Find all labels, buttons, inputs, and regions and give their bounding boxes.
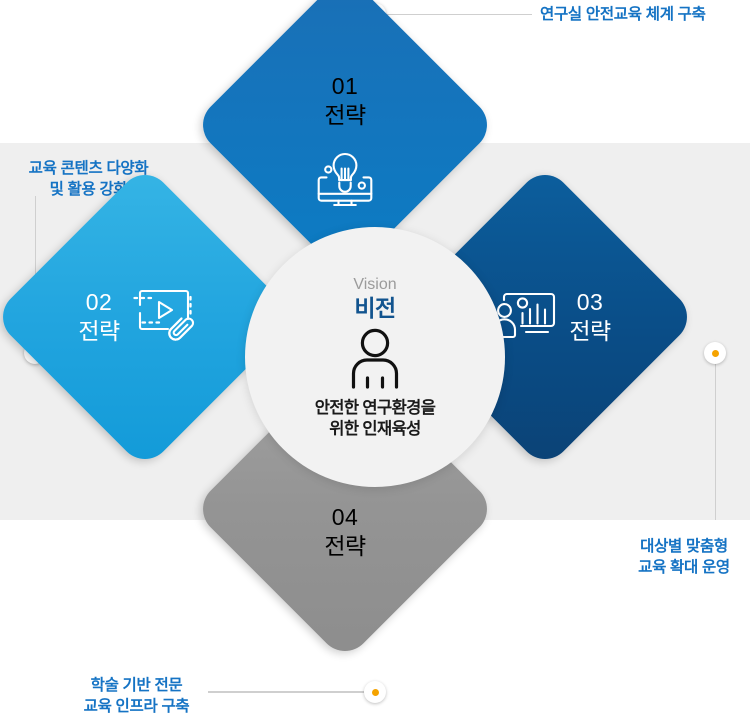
connector-line-strategy-01	[386, 14, 532, 16]
strategy-02-content: 02 전략	[78, 287, 197, 348]
strategy-04-text: 04 전략	[324, 504, 365, 561]
callout-strategy-01-line1: 연구실 안전교육 체계 구축	[540, 4, 745, 25]
vision-description-line2: 위한 인재육성	[315, 419, 436, 440]
callout-strategy-03: 대상별 맞춤형 교육 확대 운영	[623, 536, 745, 578]
strategy-03-content: 03 전략	[491, 286, 610, 349]
strategy-04-number: 04	[332, 504, 359, 531]
strategy-03-label: 전략	[569, 316, 610, 346]
callout-strategy-04-line2: 교육 인프라 구축	[69, 696, 204, 717]
strategy-02-text: 02 전략	[78, 289, 119, 346]
strategy-03-number: 03	[577, 289, 604, 316]
strategy-02-number: 02	[86, 289, 113, 316]
connector-dot-strategy-03	[704, 342, 726, 364]
strategy-02-label: 전략	[78, 316, 119, 346]
video-attachment-icon	[132, 287, 198, 348]
strategy-01-text: 01 전략	[324, 73, 365, 130]
strategy-03-text: 03 전략	[569, 289, 610, 346]
callout-strategy-04: 학술 기반 전문 교육 인프라 구축	[69, 675, 204, 717]
strategy-04-label: 전략	[324, 531, 365, 561]
callout-strategy-04-line1: 학술 기반 전문	[69, 675, 204, 696]
callout-strategy-01: 연구실 안전교육 체계 구축	[540, 4, 745, 25]
diagram-canvas: 연구실 안전교육 체계 구축 교육 콘텐츠 다양화 및 활용 강화 대상별 맞춤…	[0, 0, 750, 720]
vision-label-ko: 비전	[354, 295, 395, 322]
connector-dot-strategy-04	[364, 681, 386, 703]
person-icon	[346, 328, 404, 395]
vision-label-en: Vision	[353, 275, 396, 294]
vision-description: 안전한 연구환경을 위한 인재육성	[315, 398, 436, 440]
vision-circle[interactable]: Vision 비전 안전한 연구환경을 위한 인재육성	[245, 227, 505, 487]
strategy-01-number: 01	[332, 73, 359, 100]
connector-line-strategy-03	[715, 364, 717, 520]
strategy-01-label: 전략	[324, 100, 365, 130]
lightbulb-monitor-icon	[314, 150, 376, 213]
connector-line-strategy-04	[208, 691, 364, 693]
callout-strategy-03-line1: 대상별 맞춤형	[623, 536, 745, 557]
vision-description-line1: 안전한 연구환경을	[315, 398, 436, 419]
callout-strategy-03-line2: 교육 확대 운영	[623, 557, 745, 578]
